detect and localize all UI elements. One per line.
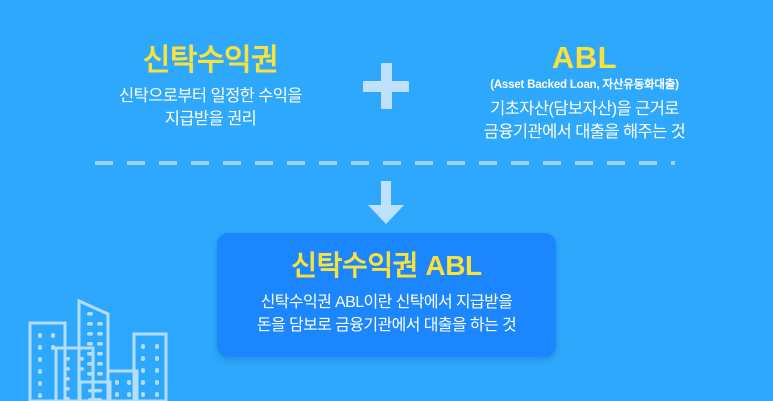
down-arrow-head — [368, 205, 404, 224]
concept-description-right-line1: 기초자산(담보자산)을 근거로 — [432, 98, 737, 121]
concept-description-left: 신탁으로부터 일정한 수익을 지급받을 권리 — [58, 85, 363, 132]
concept-title-left: 신탁수익권 — [58, 44, 363, 78]
result-card-description-line2: 돈을 담보로 금융기관에서 대출을 하는 것 — [217, 314, 556, 337]
concept-description-right: 기초자산(담보자산)을 근거로 금융기관에서 대출을 해주는 것 — [432, 98, 737, 145]
city-skyline-illustration — [18, 281, 178, 401]
infographic-canvas: 신탁수익권 신탁으로부터 일정한 수익을 지급받을 권리 ABL (Asset … — [0, 0, 773, 401]
concept-description-left-line2: 지급받을 권리 — [58, 108, 363, 131]
result-card-title: 신탁수익권 ABL — [217, 250, 556, 282]
concept-block-abl: ABL (Asset Backed Loan, 자산유동화대출) 기초자산(담보… — [432, 41, 737, 144]
result-card: 신탁수익권 ABL 신탁수익권 ABL이란 신탁에서 지급받을 돈을 담보로 금… — [217, 233, 556, 357]
plus-icon — [363, 63, 409, 109]
concept-block-trust-beneficiary-right: 신탁수익권 신탁으로부터 일정한 수익을 지급받을 권리 — [58, 44, 363, 131]
concept-subtitle-right: (Asset Backed Loan, 자산유동화대출) — [432, 79, 737, 93]
concept-description-left-line1: 신탁으로부터 일정한 수익을 — [58, 85, 363, 108]
down-arrow-icon — [368, 181, 404, 223]
concept-description-right-line2: 금융기관에서 대출을 해주는 것 — [432, 121, 737, 144]
result-card-description-line1: 신탁수익권 ABL이란 신탁에서 지급받을 — [217, 291, 556, 314]
result-card-description: 신탁수익권 ABL이란 신탁에서 지급받을 돈을 담보로 금융기관에서 대출을 … — [217, 291, 556, 337]
concept-title-right: ABL — [432, 41, 737, 76]
dashed-divider — [95, 161, 675, 165]
